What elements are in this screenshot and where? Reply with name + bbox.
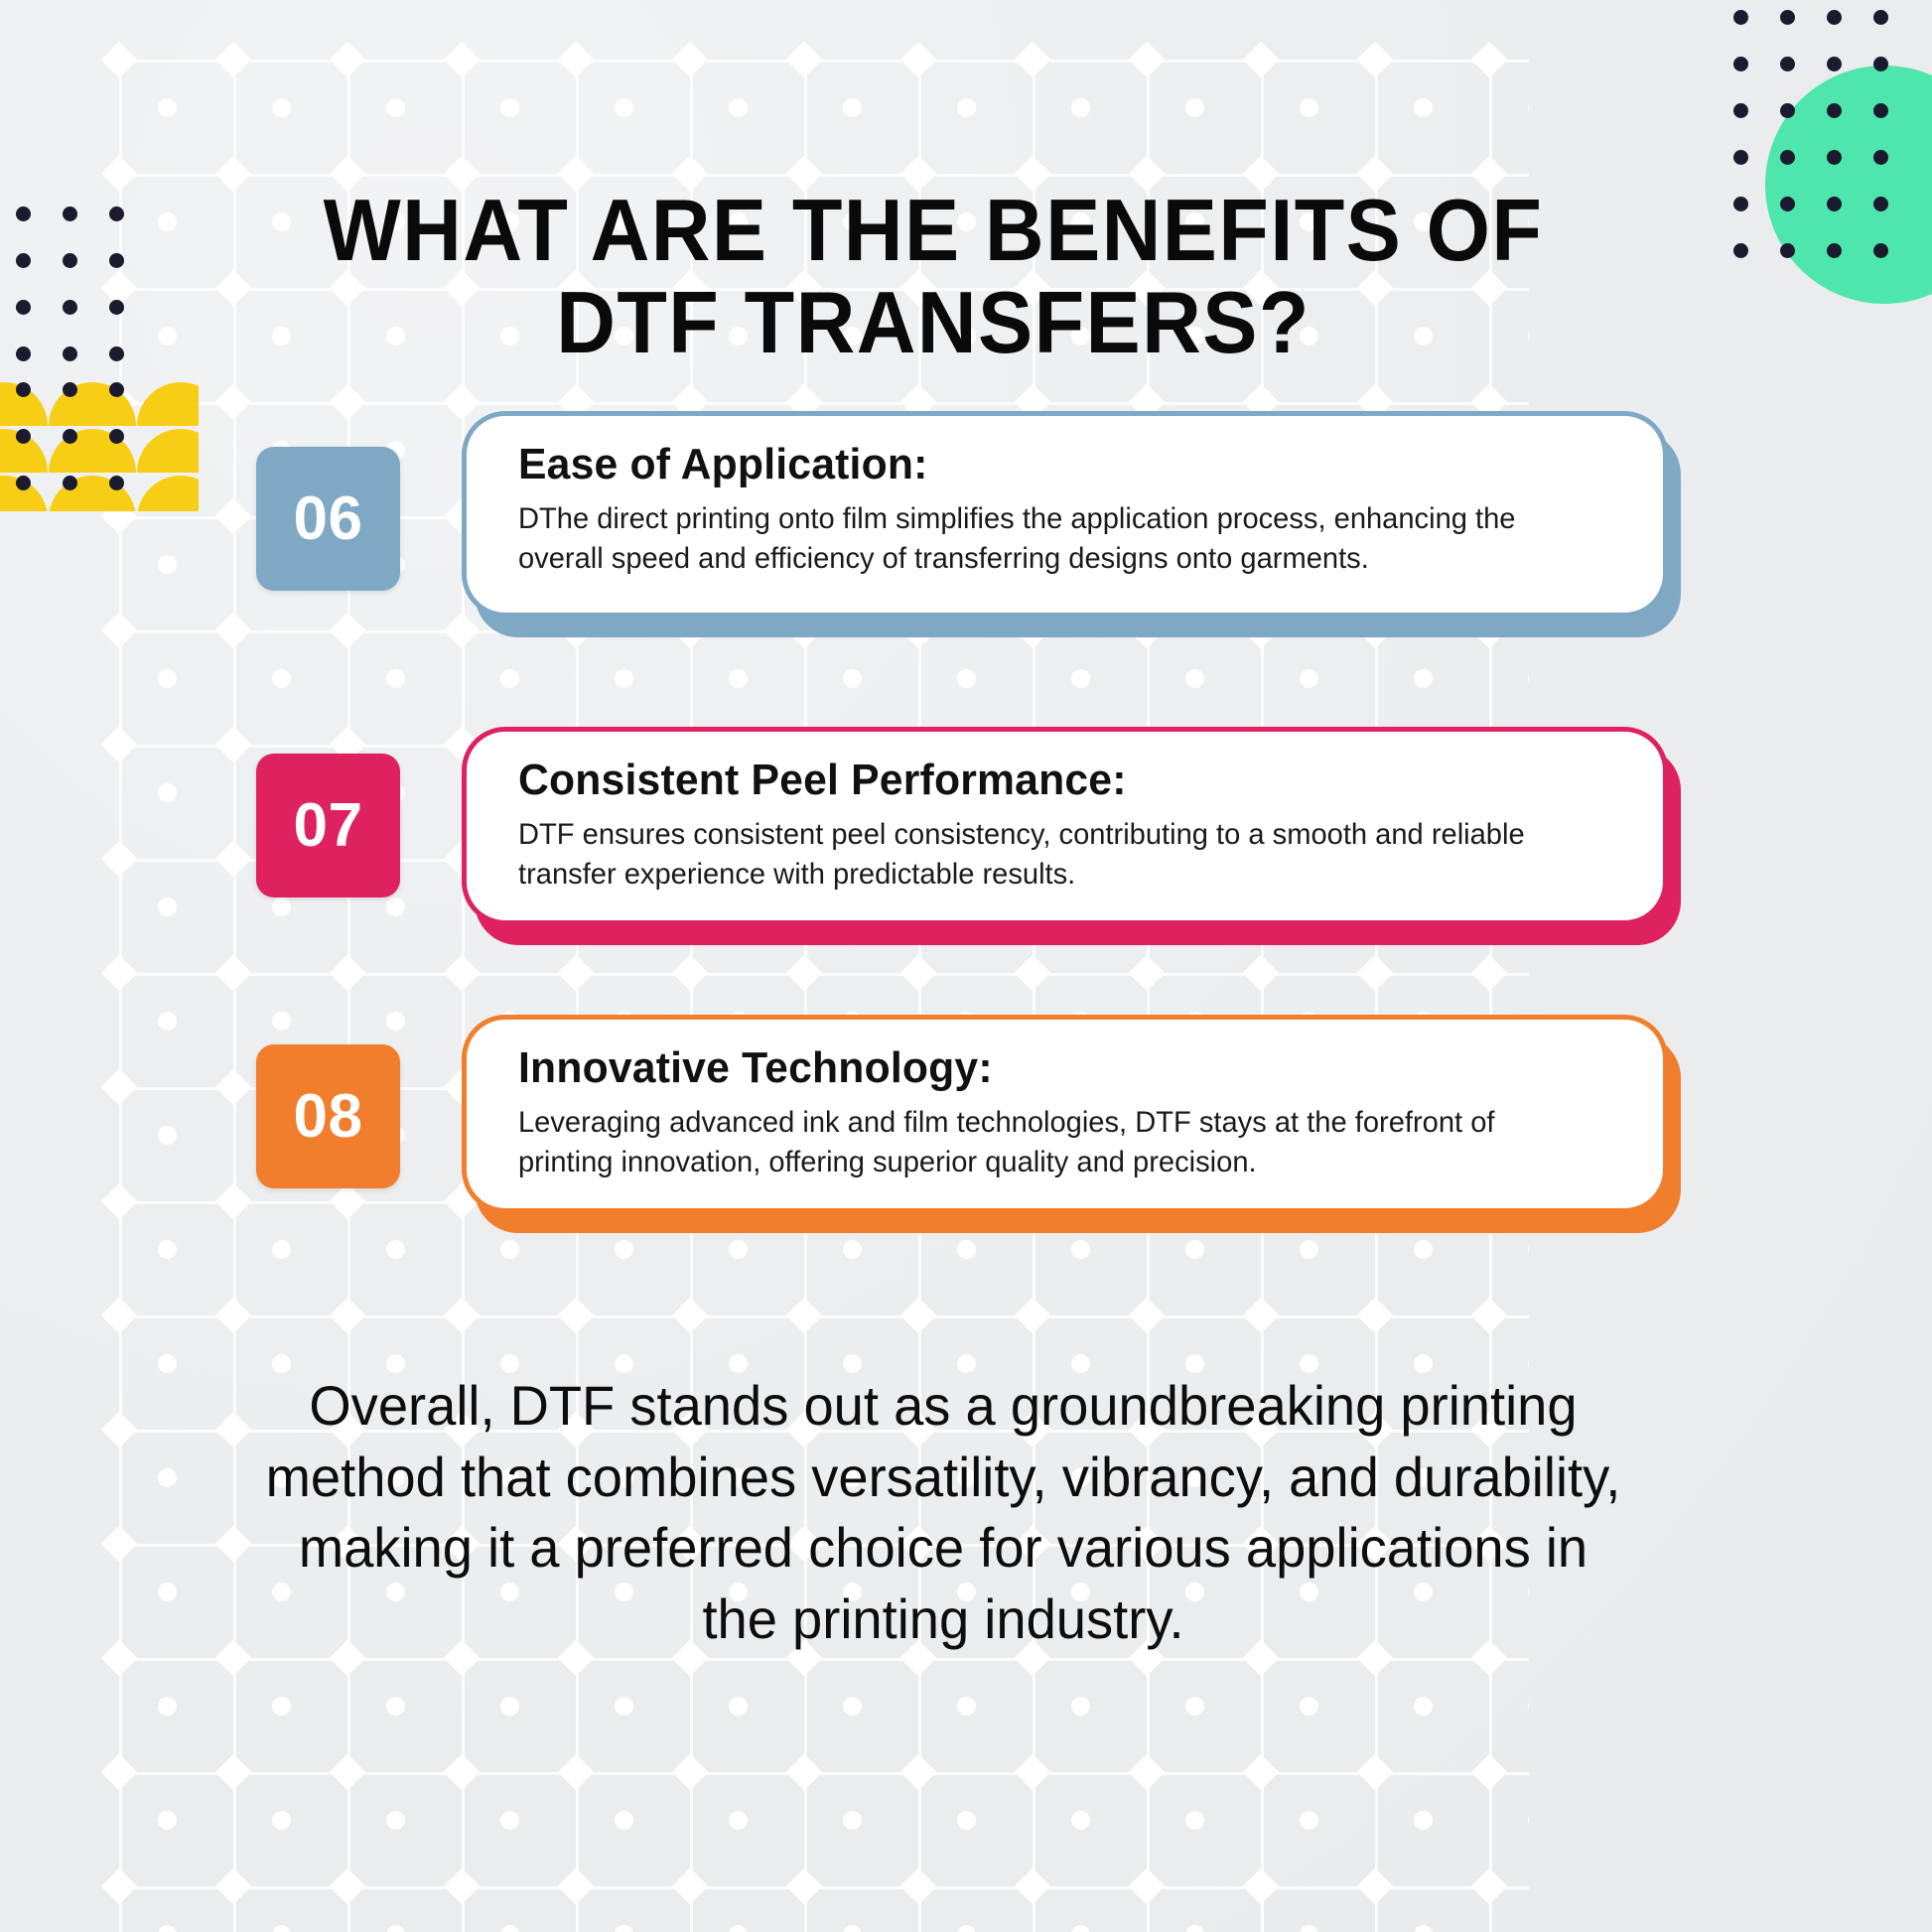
page-title: WHAT ARE THE BENEFITS OF DTF TRANSFERS? (242, 184, 1623, 369)
benefit-body: DTF ensures consistent peel consistency,… (518, 815, 1579, 894)
benefit-card-panel: Consistent Peel Performance: DTF ensures… (462, 727, 1668, 925)
dot-grid-top-right (1733, 10, 1932, 238)
benefit-number-badge: 08 (256, 1044, 400, 1188)
benefit-card-list: 06 Ease of Application: DThe direct prin… (0, 457, 1932, 1320)
benefit-heading: Ease of Application: (518, 440, 1579, 489)
summary-paragraph: Overall, DTF stands out as a groundbreak… (259, 1370, 1626, 1655)
benefit-card-panel: Ease of Application: DThe direct printin… (462, 411, 1668, 618)
benefit-card: 08 Innovative Technology: Leveraging adv… (0, 1033, 1932, 1286)
benefit-body: Leveraging advanced ink and film technol… (518, 1103, 1579, 1181)
benefit-number-badge: 06 (256, 447, 400, 591)
benefit-heading: Innovative Technology: (518, 1043, 1579, 1093)
benefit-number-badge: 07 (256, 754, 400, 897)
benefit-card-panel: Innovative Technology: Leveraging advanc… (462, 1015, 1668, 1213)
benefit-body: DThe direct printing onto film simplifie… (518, 499, 1579, 578)
infographic-canvas: WHAT ARE THE BENEFITS OF DTF TRANSFERS? … (0, 0, 1932, 1932)
benefit-heading: Consistent Peel Performance: (518, 756, 1579, 805)
benefit-card: 07 Consistent Peel Performance: DTF ensu… (0, 745, 1932, 998)
benefit-card: 06 Ease of Application: DThe direct prin… (0, 457, 1932, 710)
